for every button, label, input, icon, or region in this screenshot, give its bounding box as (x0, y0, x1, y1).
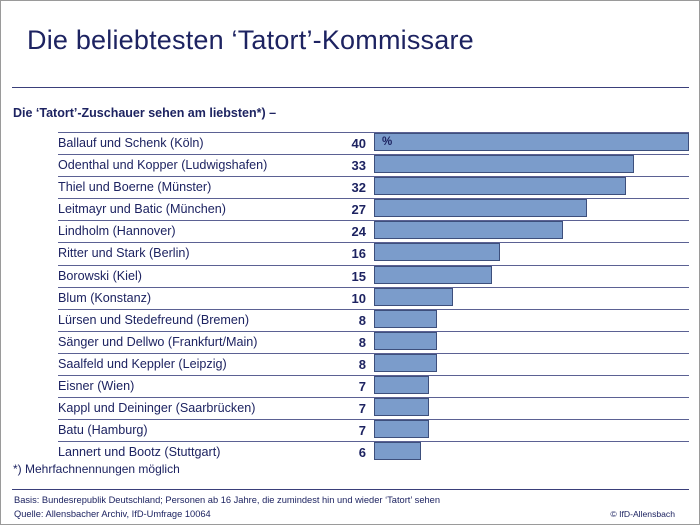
bar-track (374, 221, 689, 239)
chart-row: Lindholm (Hannover)24 (1, 220, 699, 242)
bar-track (374, 177, 689, 195)
page-title: Die beliebtesten ‘Tatort’-Kommissare (27, 25, 474, 56)
bar (374, 332, 437, 350)
bar-track (374, 199, 689, 217)
copyright-notice: © IfD-Allensbach (610, 508, 675, 522)
row-category-label: Odenthal und Kopper (Ludwigshafen) (58, 156, 330, 175)
bar-track (374, 354, 689, 372)
chart-row: Saalfeld und Keppler (Leipzig)8 (1, 353, 699, 375)
row-category-label: Borowski (Kiel) (58, 267, 330, 286)
row-value-label: 10 (301, 289, 366, 308)
bar (374, 243, 500, 261)
bar-track (374, 398, 689, 416)
row-value-label: 8 (301, 311, 366, 330)
source-block: Basis: Bundesrepublik Deutschland; Perso… (14, 494, 689, 524)
chart-row: Odenthal und Kopper (Ludwigshafen)33 (1, 154, 699, 176)
bar-track (374, 442, 689, 460)
chart-row: Thiel und Boerne (Münster)32 (1, 176, 699, 198)
row-value-label: 24 (301, 222, 366, 241)
bar-track (374, 310, 689, 328)
source-quelle: Quelle: Allensbacher Archiv, IfD-Umfrage… (14, 508, 689, 522)
bar (374, 376, 429, 394)
bar-track (374, 288, 689, 306)
row-value-label: 15 (301, 267, 366, 286)
percent-unit-label: % (382, 134, 392, 150)
row-value-label: 6 (301, 443, 366, 462)
chart-row: Sänger und Dellwo (Frankfurt/Main)8 (1, 331, 699, 353)
row-category-label: Lürsen und Stedefreund (Bremen) (58, 311, 330, 330)
bar-track (374, 332, 689, 350)
chart-subtitle: Die ‘Tatort’-Zuschauer sehen am liebsten… (13, 106, 276, 120)
row-category-label: Ballauf und Schenk (Köln) (58, 134, 330, 153)
row-value-label: 7 (301, 399, 366, 418)
row-category-label: Eisner (Wien) (58, 377, 330, 396)
bar-track (374, 420, 689, 438)
chart-row: Kappl und Deininger (Saarbrücken)7 (1, 397, 699, 419)
row-category-label: Blum (Konstanz) (58, 289, 330, 308)
bar-track (374, 266, 689, 284)
chart-row: Lannert und Bootz (Stuttgart)6 (1, 441, 699, 463)
row-value-label: 8 (301, 333, 366, 352)
row-value-label: 27 (301, 200, 366, 219)
bar (374, 177, 626, 195)
row-category-label: Lindholm (Hannover) (58, 222, 330, 241)
row-value-label: 40 (301, 134, 366, 153)
chart-row: Ritter und Stark (Berlin)16 (1, 242, 699, 264)
bar (374, 288, 453, 306)
chart-row: Ballauf und Schenk (Köln)40% (1, 132, 699, 154)
bar (374, 266, 492, 284)
bar-track: % (374, 133, 689, 151)
row-category-label: Lannert und Bootz (Stuttgart) (58, 443, 330, 462)
row-category-label: Thiel und Boerne (Münster) (58, 178, 330, 197)
bar (374, 199, 587, 217)
chart-row: Blum (Konstanz)10 (1, 287, 699, 309)
bar (374, 354, 437, 372)
title-divider (12, 87, 689, 88)
bar (374, 133, 689, 151)
bar-track (374, 243, 689, 261)
bar (374, 310, 437, 328)
source-divider (12, 489, 689, 490)
chart-row: Leitmayr und Batic (München)27 (1, 198, 699, 220)
row-value-label: 7 (301, 421, 366, 440)
chart-row: Eisner (Wien)7 (1, 375, 699, 397)
chart-row: Borowski (Kiel)15 (1, 265, 699, 287)
bar (374, 420, 429, 438)
row-category-label: Leitmayr und Batic (München) (58, 200, 330, 219)
row-value-label: 16 (301, 244, 366, 263)
bar-track (374, 376, 689, 394)
row-category-label: Sänger und Dellwo (Frankfurt/Main) (58, 333, 330, 352)
row-category-label: Ritter und Stark (Berlin) (58, 244, 330, 263)
bar-chart: Ballauf und Schenk (Köln)40%Odenthal und… (1, 132, 699, 463)
row-category-label: Saalfeld und Keppler (Leipzig) (58, 355, 330, 374)
row-category-label: Kappl und Deininger (Saarbrücken) (58, 399, 330, 418)
row-value-label: 7 (301, 377, 366, 396)
footnote: *) Mehrfachnennungen möglich (13, 462, 180, 476)
bar (374, 398, 429, 416)
title-block: Die beliebtesten ‘Tatort’-Kommissare (1, 1, 699, 89)
row-value-label: 32 (301, 178, 366, 197)
bar (374, 442, 421, 460)
chart-card: Die beliebtesten ‘Tatort’-Kommissare Die… (0, 0, 700, 525)
chart-row: Batu (Hamburg)7 (1, 419, 699, 441)
bar-track (374, 155, 689, 173)
chart-row: Lürsen und Stedefreund (Bremen)8 (1, 309, 699, 331)
row-category-label: Batu (Hamburg) (58, 421, 330, 440)
source-basis: Basis: Bundesrepublik Deutschland; Perso… (14, 494, 689, 508)
row-value-label: 8 (301, 355, 366, 374)
bar (374, 155, 634, 173)
row-value-label: 33 (301, 156, 366, 175)
bar (374, 221, 563, 239)
